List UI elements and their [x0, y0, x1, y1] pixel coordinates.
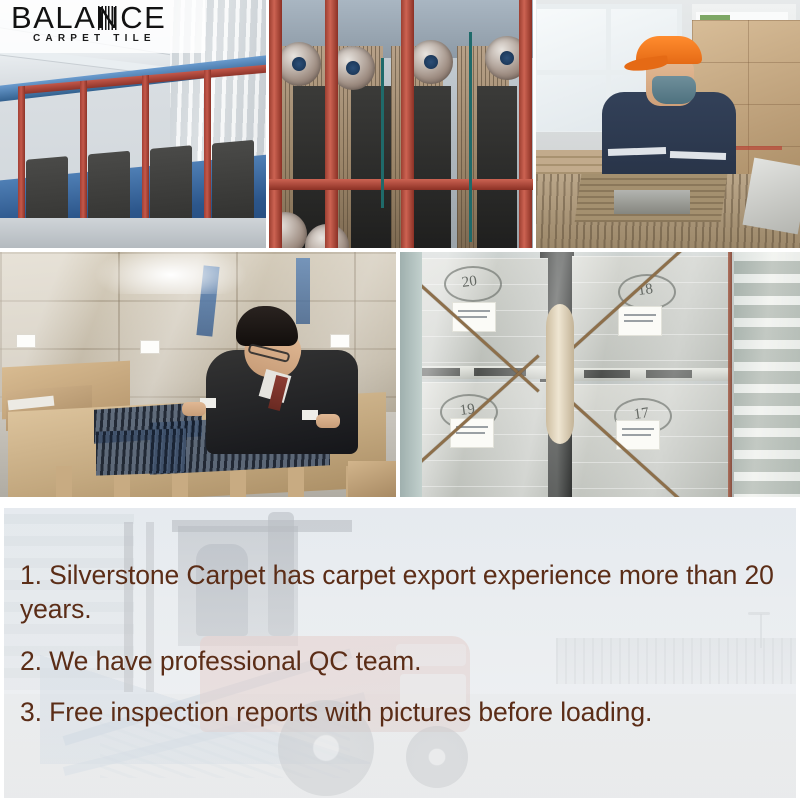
tile-board [743, 158, 800, 235]
face-mask [652, 76, 696, 104]
inspector-hand [182, 402, 206, 416]
guide-cord [381, 58, 384, 208]
logo-letter-e: E [144, 5, 166, 31]
dark-carpet-face [351, 86, 391, 248]
logo-letter-a2: A [74, 5, 96, 31]
selling-points-inner: 1. Silverstone Carpet has carpet export … [4, 508, 796, 798]
selling-points-list: 1. Silverstone Carpet has carpet export … [20, 558, 790, 730]
logo-letter-c: C [120, 5, 144, 31]
container-red-edge [728, 252, 732, 497]
brand-logo: B A L A N C E CARPET TILE [0, 0, 205, 53]
selling-point-3-text-a: 3. Free inspection reports with pictures… [20, 697, 553, 727]
selling-points-block: 1. Silverstone Carpet has carpet export … [0, 502, 800, 800]
frame-post [269, 0, 282, 248]
inspector-hair [236, 306, 298, 346]
inspector-hand [316, 414, 340, 428]
wheel-hub [424, 55, 438, 69]
pallet-note [618, 306, 662, 336]
logo-letter-a1: A [33, 5, 55, 31]
selling-point-1-text-a: 1. Silverstone Carpet has carpet export … [20, 560, 612, 590]
dunnage-airbag [546, 304, 574, 444]
photo-qc-inspection [0, 252, 396, 497]
dark-carpet-face [411, 86, 451, 248]
photo-tile-press [269, 0, 533, 248]
daylight-glow [96, 252, 246, 294]
dark-carpet-face [477, 86, 517, 248]
wheel-hub [292, 57, 306, 71]
banner-sheet: B A L A N C E CARPET TILE [0, 0, 800, 800]
brand-tagline: CARPET TILE [33, 33, 156, 44]
selling-point-1: 1. Silverstone Carpet has carpet export … [20, 558, 790, 627]
frame-post [401, 0, 414, 248]
photo-packing-worker [536, 0, 800, 248]
inspector-figure [206, 306, 358, 438]
photo-container-loading: 20 18 19 17 [400, 252, 800, 497]
carpet-tile-sample [96, 428, 186, 475]
crate-label [16, 334, 36, 348]
brand-wordmark: B A L A N C E [11, 5, 166, 31]
press-wheel [277, 42, 321, 86]
metal-tray [614, 190, 690, 214]
wheel-hub [500, 51, 514, 65]
wheel-hub [346, 61, 360, 75]
logo-letter-b: B [11, 5, 33, 31]
frame-post [325, 0, 338, 248]
photo-production-line: B A L A N C E CARPET TILE [0, 0, 266, 248]
logo-letter-n: N [96, 0, 120, 35]
selling-point-3-text-b: loading. [560, 697, 652, 727]
pallet-number: 20 [461, 273, 478, 292]
guide-cord [469, 32, 472, 242]
press-wheel [409, 40, 453, 84]
selling-point-2: 2. We have professional QC team. [20, 644, 790, 678]
logo-letter-l: L [55, 5, 74, 31]
factory-floor [0, 218, 266, 248]
frame-lower-beam [269, 179, 533, 190]
photo-collage: B A L A N C E CARPET TILE [0, 0, 800, 497]
frame-post [519, 0, 532, 248]
container-door-frame-left [400, 252, 422, 497]
selling-point-3: 3. Free inspection reports with pictures… [20, 695, 790, 729]
pallet-note [450, 418, 494, 448]
logo-letter-n-striped: N [96, 5, 120, 31]
floor-carton [348, 461, 396, 497]
crate-label [140, 340, 160, 354]
corrugated-panel [734, 252, 800, 497]
